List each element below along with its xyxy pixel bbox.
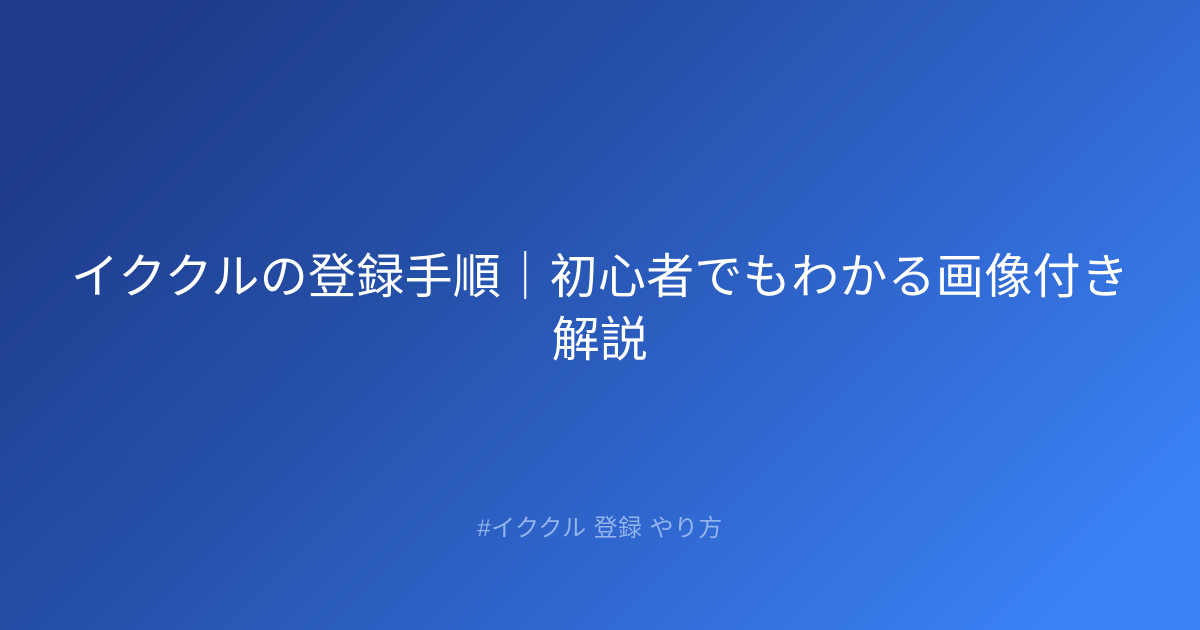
keyword-tag: #イククル 登録 やり方	[50, 512, 1150, 546]
page-title: イククルの登録手順｜初心者でもわかる画像付き解説	[50, 246, 1150, 373]
tag-block: #イククル 登録 やり方	[50, 512, 1150, 546]
og-image-card: イククルの登録手順｜初心者でもわかる画像付き解説 #イククル 登録 やり方	[0, 0, 1200, 630]
title-block: イククルの登録手順｜初心者でもわかる画像付き解説	[50, 246, 1150, 373]
